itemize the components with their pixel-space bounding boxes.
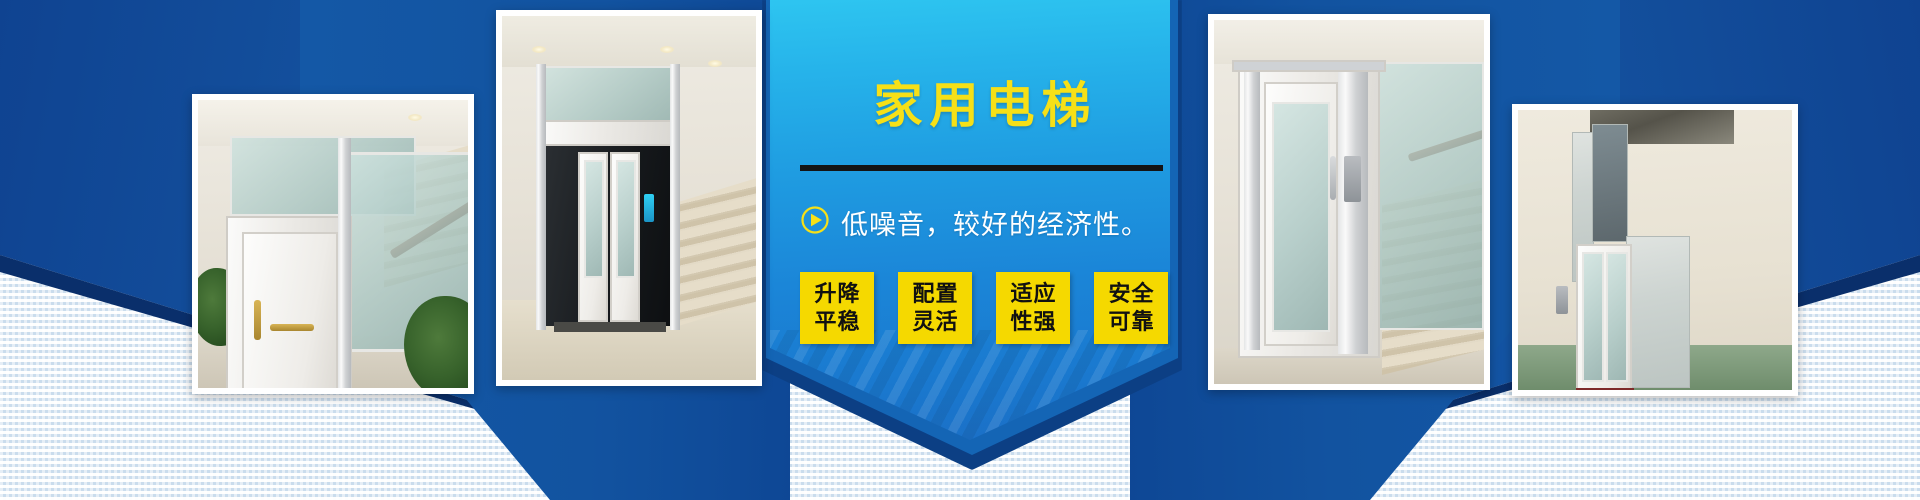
- photo-glass-home-lift-with-plant[interactable]: [192, 94, 474, 394]
- home-elevator-banner: 家用电梯 低噪音，较好的经济性。 升降 平稳 配置 灵活 适应 性强 安全 可靠: [0, 0, 1920, 500]
- photo-lift-installation-in-progress[interactable]: [1512, 104, 1798, 396]
- photo-scene: [1214, 20, 1484, 384]
- photo-villa-lift-marble-stairs[interactable]: [496, 10, 762, 386]
- title-divider: [800, 165, 1163, 171]
- badge-line-1: 升降: [813, 280, 860, 308]
- photo-frame: [1518, 110, 1792, 390]
- feature-badge-smooth-lift[interactable]: 升降 平稳: [800, 272, 874, 344]
- badge-line-1: 适应: [1009, 280, 1056, 308]
- badge-line-2: 可靠: [1107, 308, 1154, 336]
- photo-scene: [1518, 110, 1792, 390]
- badge-line-2: 灵活: [911, 308, 958, 336]
- photo-frame: [502, 16, 756, 380]
- feature-badge-adaptable[interactable]: 适应 性强: [996, 272, 1070, 344]
- badge-line-2: 性强: [1009, 308, 1056, 336]
- photo-stainless-lift-glass-shaft[interactable]: [1208, 14, 1490, 390]
- photo-scene: [198, 100, 468, 388]
- subtitle-text: 低噪音，较好的经济性。: [841, 203, 1149, 242]
- feature-badge-list: 升降 平稳 配置 灵活 适应 性强 安全 可靠: [800, 272, 1168, 344]
- feature-badge-safe-reliable[interactable]: 安全 可靠: [1094, 272, 1168, 344]
- photo-frame: [1214, 20, 1484, 384]
- photo-frame: [198, 100, 468, 388]
- photo-scene: [502, 16, 756, 380]
- badge-line-2: 平稳: [813, 308, 860, 336]
- circled-play-arrow-icon: [800, 205, 830, 240]
- page-title: 家用电梯: [800, 82, 1164, 131]
- subtitle-row: 低噪音，较好的经济性。: [800, 203, 1168, 242]
- badge-line-1: 配置: [911, 280, 958, 308]
- badge-line-1: 安全: [1107, 280, 1154, 308]
- feature-badge-flexible-config[interactable]: 配置 灵活: [898, 272, 972, 344]
